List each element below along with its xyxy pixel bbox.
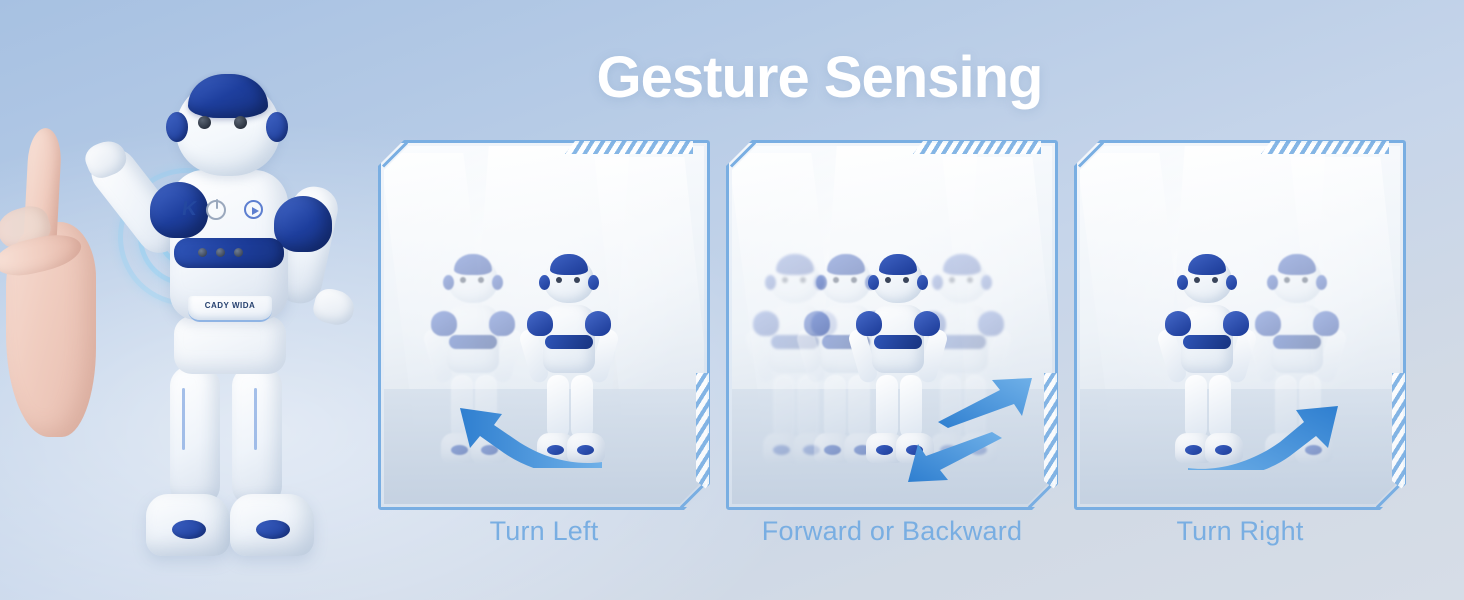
robot-foot-accent-left — [172, 520, 206, 539]
gesture-sensing-banner: Gesture Sensing — [0, 0, 1464, 600]
caption-turn-right: Turn Right — [1074, 516, 1406, 547]
robot-eye-right — [234, 116, 247, 129]
robot-shoulder-right — [274, 196, 332, 252]
panel-frame — [726, 140, 1058, 510]
panel-turn-right[interactable] — [1074, 140, 1406, 510]
robot-leg-right — [232, 366, 282, 506]
robot-foot-accent-right — [256, 520, 290, 539]
robot-leg-left — [170, 366, 220, 506]
panel-backdrop — [732, 146, 1052, 504]
robot-ear-left — [166, 112, 188, 142]
power-button-icon — [206, 200, 226, 220]
frame-hatch-top — [565, 141, 693, 154]
frame-hatch-top — [913, 141, 1041, 154]
robot-main-pose — [525, 257, 613, 483]
sensor-dot — [216, 248, 225, 257]
gesture-panels — [378, 140, 1406, 510]
robot-ghost-pose — [1253, 257, 1341, 483]
hero-robot: K CADY WIDA — [78, 58, 368, 578]
brand-badge: CADY WIDA — [188, 296, 272, 322]
robot-main-pose — [1163, 257, 1251, 483]
panel-turn-left[interactable] — [378, 140, 710, 510]
frame-hatch-right — [1044, 373, 1057, 491]
robot-hips — [174, 316, 286, 374]
panel-captions: Turn Left Forward or Backward Turn Right — [378, 516, 1406, 547]
caption-turn-left: Turn Left — [378, 516, 710, 547]
robot-ear-right — [266, 112, 288, 142]
panel-frame — [378, 140, 710, 510]
frame-hatch-right — [1392, 373, 1405, 491]
panel-backdrop — [384, 146, 704, 504]
sensor-dot — [234, 248, 243, 257]
frame-hatch-top — [1261, 141, 1389, 154]
play-icon — [244, 200, 263, 219]
robot-eye-left — [198, 116, 211, 129]
sensor-dot — [198, 248, 207, 257]
panel-backdrop — [1080, 146, 1400, 504]
panel-frame — [1074, 140, 1406, 510]
caption-forward-backward: Forward or Backward — [726, 516, 1058, 547]
hero-illustration: K CADY WIDA — [0, 0, 380, 600]
leg-trim — [254, 388, 257, 450]
robot-main-pose — [854, 257, 942, 483]
panel-forward-backward[interactable] — [726, 140, 1058, 510]
robot-chest-band — [174, 238, 284, 268]
robot-ghost-pose — [429, 257, 517, 483]
frame-hatch-right — [696, 373, 709, 491]
robot-head-cap — [188, 74, 268, 118]
leg-trim — [182, 388, 185, 450]
robot-shoulder-left — [150, 182, 208, 238]
